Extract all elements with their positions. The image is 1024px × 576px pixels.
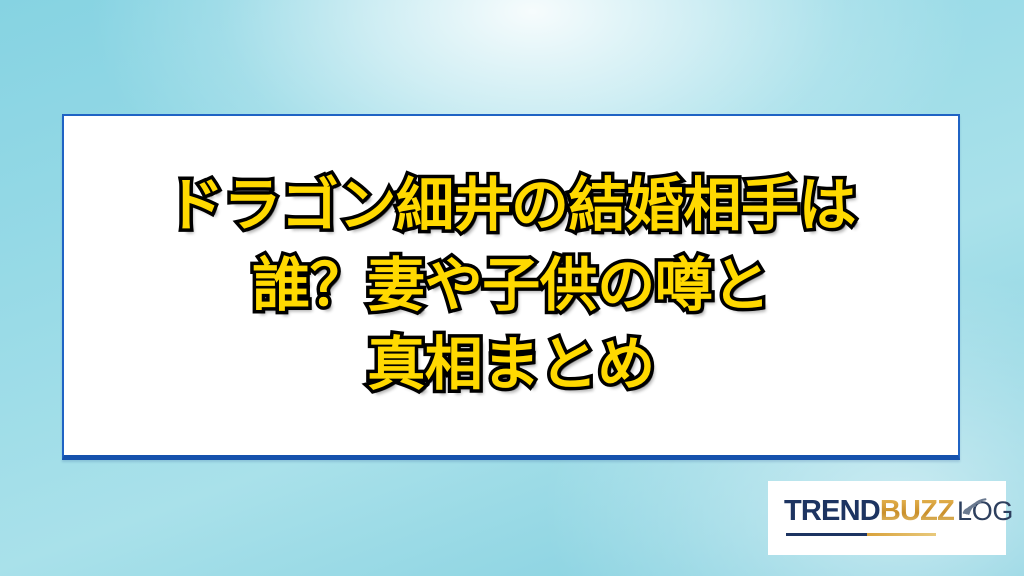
title-line-2: 誰？妻や子供の噂と <box>252 248 770 323</box>
title-line-1: ドラゴン細井の結婚相手は <box>166 168 856 243</box>
brand-word-trend: TREND <box>784 497 880 526</box>
brand-underline-bar <box>786 533 936 536</box>
wifi-signal-icon <box>958 491 987 518</box>
brand-logo: TREND BUZZ LOG <box>784 495 990 541</box>
title-card: ドラゴン細井の結婚相手は 誰？妻や子供の噂と 真相まとめ <box>62 114 960 460</box>
title-line-3: 真相まとめ <box>367 327 655 402</box>
thumbnail-canvas: ドラゴン細井の結婚相手は 誰？妻や子供の噂と 真相まとめ TREND BUZZ … <box>0 0 1024 576</box>
brand-logo-badge[interactable]: TREND BUZZ LOG <box>768 481 1006 555</box>
title-text-block: ドラゴン細井の結婚相手は 誰？妻や子供の噂と 真相まとめ <box>64 116 958 455</box>
brand-word-buzz: BUZZ <box>880 497 954 526</box>
